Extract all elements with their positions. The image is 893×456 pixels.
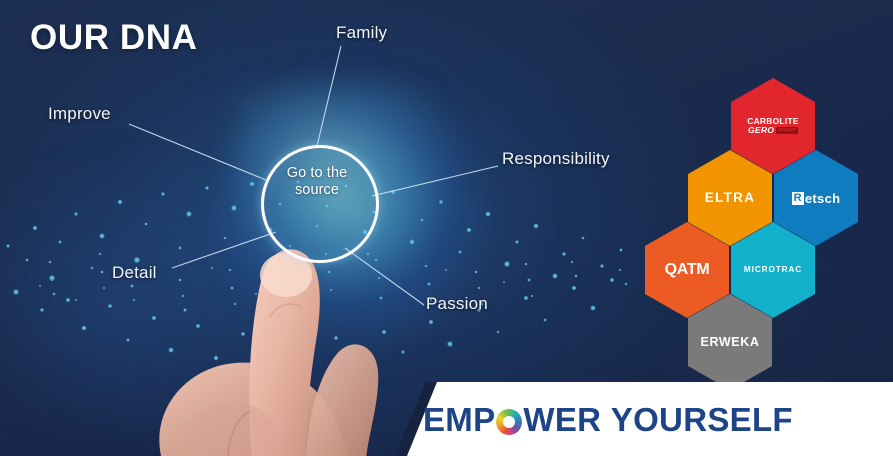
- dna-brand-graphic: Go to the source Family Improve Responsi…: [0, 0, 893, 456]
- brand-label-retsch: etsch: [805, 192, 840, 205]
- value-label-passion: Passion: [426, 294, 488, 314]
- value-label-responsibility: Responsibility: [502, 149, 610, 169]
- center-circle: [261, 145, 379, 263]
- brand-label-qatm: QATM: [665, 262, 710, 278]
- brand-initial-retsch: R: [792, 192, 804, 205]
- brand-label-carbolite: CARBOLITE: [747, 117, 799, 125]
- brand-label-gero: GERO: [748, 126, 774, 135]
- brand-label-eltra: ELTRA: [705, 191, 756, 205]
- brand-badge-group: GROUP: [776, 127, 798, 134]
- page-title: OUR DNA: [30, 18, 198, 58]
- value-label-family: Family: [336, 23, 387, 43]
- value-label-detail: Detail: [112, 263, 157, 283]
- brand-label-microtrac: MICROTRAC: [744, 266, 802, 274]
- value-label-improve: Improve: [48, 104, 111, 124]
- center-circle-label: Go to the source: [261, 165, 373, 199]
- center-label-line2: source: [261, 182, 373, 199]
- brand-label-erweka: ERWEKA: [701, 336, 760, 349]
- center-label-line1: Go to the: [261, 165, 373, 182]
- brand-hexagon-cluster: CARBOLITE GERO GROUP ELTRA Retsch QATM M…: [655, 78, 893, 368]
